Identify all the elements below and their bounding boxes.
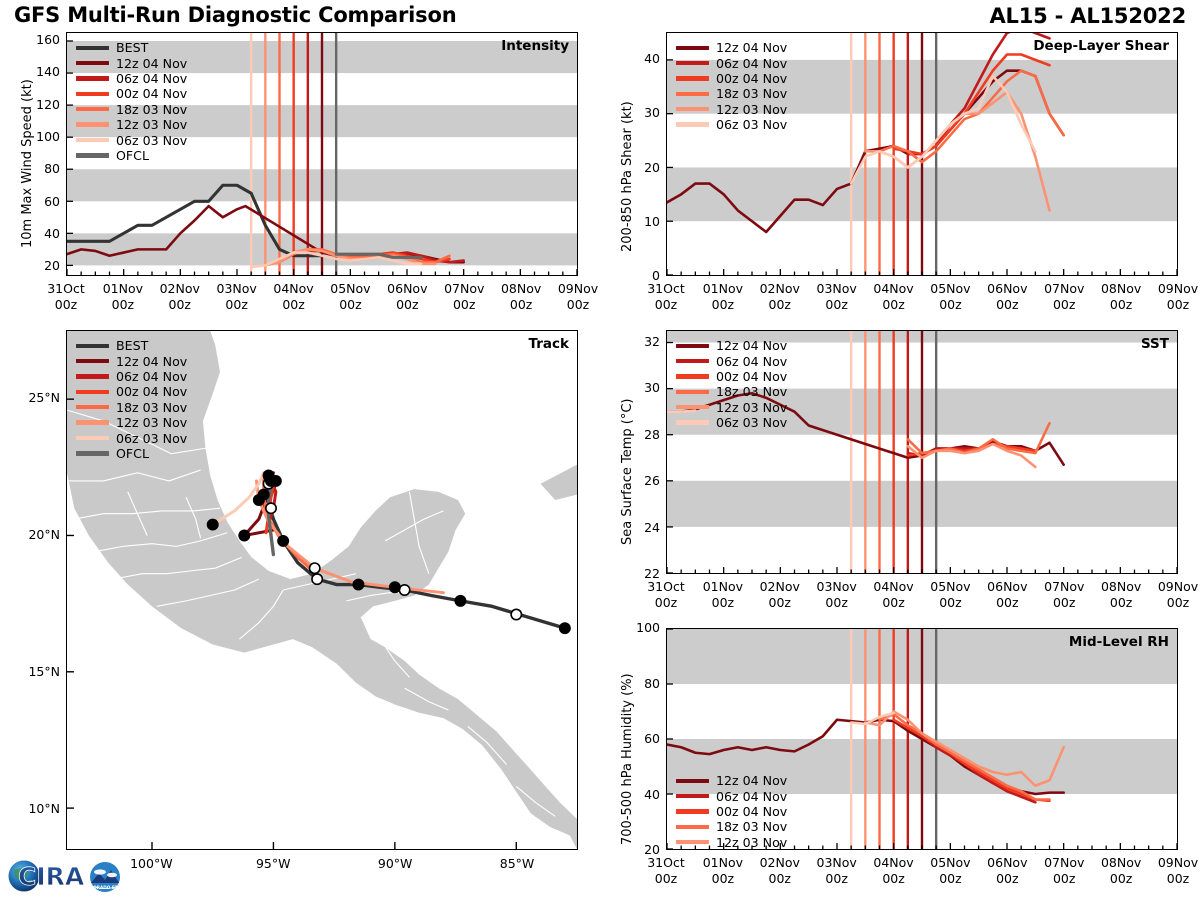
- legend-label: 06z 04 Nov: [116, 369, 187, 384]
- y-tick-label: 20: [620, 160, 660, 175]
- legend-swatch-icon: [76, 107, 109, 111]
- legend-label: 18z 03 Nov: [116, 400, 187, 415]
- legend-swatch-icon: [76, 436, 109, 440]
- y-tick-label: 28: [620, 427, 660, 442]
- legend-sst: 12z 04 Nov06z 04 Nov00z 04 Nov18z 03 Nov…: [676, 338, 787, 430]
- legend-label: 06z 04 Nov: [716, 789, 787, 804]
- lon-tick-label: 95°W: [238, 856, 308, 872]
- legend-label: OFCL: [116, 446, 149, 461]
- legend-item-18z-03-nov: 18z 03 Nov: [676, 819, 787, 834]
- legend-item-06z-03-nov: 06z 03 Nov: [676, 415, 787, 430]
- x-tick-label: 31Oct00z: [36, 281, 96, 313]
- legend-label: 12z 04 Nov: [716, 338, 787, 353]
- x-tick-date: 07Nov: [444, 281, 484, 296]
- x-tick-label: 07Nov00z: [1034, 579, 1094, 611]
- x-tick-label: 05Nov00z: [320, 281, 380, 313]
- page-title-right: AL15 - AL152022: [989, 4, 1186, 28]
- legend-item-06z-03-nov: 06z 03 Nov: [676, 117, 787, 132]
- x-tick-hour: 00z: [225, 297, 247, 312]
- y-tick-label: 20: [20, 258, 60, 273]
- x-tick-date: 09Nov: [1158, 579, 1198, 594]
- x-tick-date: 08Nov: [501, 281, 541, 296]
- legend-swatch-icon: [76, 138, 109, 142]
- x-tick-hour: 00z: [882, 871, 904, 886]
- legend-label: 00z 04 Nov: [716, 369, 787, 384]
- x-tick-hour: 00z: [1110, 297, 1132, 312]
- x-tick-hour: 00z: [1167, 297, 1189, 312]
- lat-tick-label: 25°N: [8, 390, 60, 405]
- legend-swatch-icon: [676, 840, 709, 844]
- x-tick-label: 08Nov00z: [491, 281, 551, 313]
- legend-item-12z-04-nov: 12z 04 Nov: [676, 338, 787, 353]
- x-tick-hour: 00z: [655, 297, 677, 312]
- lon-tick-label: 90°W: [360, 856, 430, 872]
- x-tick-label: 31Oct00z: [636, 281, 696, 313]
- x-tick-hour: 00z: [712, 871, 734, 886]
- x-tick-date: 06Nov: [987, 579, 1027, 594]
- x-tick-date: 03Nov: [217, 281, 257, 296]
- x-tick-hour: 00z: [282, 297, 304, 312]
- y-tick-label: 32: [620, 334, 660, 349]
- x-tick-hour: 00z: [1053, 595, 1075, 610]
- lat-tick-label: 10°N: [8, 801, 60, 816]
- legend-label: OFCL: [116, 148, 149, 163]
- legend-item-00z-04-nov: 00z 04 Nov: [76, 384, 187, 399]
- svg-text:CIRA: CIRA: [18, 862, 85, 891]
- legend-label: 12z 03 Nov: [116, 415, 187, 430]
- legend-item-06z-04-nov: 06z 04 Nov: [76, 369, 187, 384]
- legend-label: 00z 04 Nov: [716, 71, 787, 86]
- y-tick-label: 60: [20, 194, 60, 209]
- legend-swatch-icon: [676, 76, 709, 80]
- legend-swatch-icon: [676, 107, 709, 111]
- x-tick-label: 07Nov00z: [1034, 281, 1094, 313]
- panel-title-rh: Mid-Level RH: [1069, 634, 1169, 650]
- legend-label: 18z 03 Nov: [116, 102, 187, 117]
- y-tick-label: 120: [20, 97, 60, 112]
- y-tick-label: 60: [620, 731, 660, 746]
- legend-item-18z-03-nov: 18z 03 Nov: [76, 400, 187, 415]
- x-tick-hour: 00z: [655, 595, 677, 610]
- y-tick-label: 24: [620, 520, 660, 535]
- x-tick-hour: 00z: [396, 297, 418, 312]
- legend-label: 12z 04 Nov: [716, 40, 787, 55]
- legend-swatch-icon: [676, 405, 709, 409]
- page-title-left: GFS Multi-Run Diagnostic Comparison: [14, 3, 456, 27]
- x-tick-date: 03Nov: [817, 855, 857, 870]
- legend-label: 00z 04 Nov: [116, 384, 187, 399]
- x-tick-label: 02Nov00z: [750, 579, 810, 611]
- lat-tick-label: 20°N: [8, 527, 60, 542]
- legend-item-06z-04-nov: 06z 04 Nov: [676, 55, 787, 70]
- legend-intensity: BEST12z 04 Nov06z 04 Nov00z 04 Nov18z 03…: [76, 40, 187, 163]
- legend-swatch-icon: [676, 420, 709, 424]
- legend-item-00z-04-nov: 00z 04 Nov: [676, 71, 787, 86]
- x-tick-hour: 00z: [712, 595, 734, 610]
- legend-label: 12z 04 Nov: [116, 354, 187, 369]
- legend-swatch-icon: [676, 92, 709, 96]
- x-tick-hour: 00z: [996, 595, 1018, 610]
- x-tick-label: 02Nov00z: [750, 855, 810, 887]
- legend-label: 00z 04 Nov: [716, 804, 787, 819]
- x-tick-date: 08Nov: [1101, 855, 1141, 870]
- legend-label: BEST: [116, 338, 148, 353]
- legend-label: 06z 04 Nov: [716, 354, 787, 369]
- x-tick-hour: 00z: [882, 297, 904, 312]
- x-tick-hour: 00z: [996, 871, 1018, 886]
- x-tick-date: 06Nov: [987, 855, 1027, 870]
- x-tick-label: 06Nov00z: [977, 579, 1037, 611]
- x-tick-date: 05Nov: [930, 579, 970, 594]
- x-tick-label: 04Nov00z: [864, 855, 924, 887]
- x-tick-label: 04Nov00z: [264, 281, 324, 313]
- x-tick-label: 01Nov00z: [93, 281, 153, 313]
- legend-swatch-icon: [76, 153, 109, 157]
- x-tick-label: 09Nov00z: [548, 281, 608, 313]
- legend-item-06z-04-nov: 06z 04 Nov: [76, 71, 187, 86]
- legend-item-06z-03-nov: 06z 03 Nov: [76, 132, 187, 147]
- y-tick-label: 160: [20, 32, 60, 47]
- x-tick-hour: 00z: [55, 297, 77, 312]
- x-tick-hour: 00z: [939, 595, 961, 610]
- legend-rh: 12z 04 Nov06z 04 Nov00z 04 Nov18z 03 Nov…: [676, 773, 787, 850]
- panel-title-track: Track: [529, 336, 569, 352]
- legend-swatch-icon: [676, 344, 709, 348]
- x-tick-label: 06Nov00z: [977, 281, 1037, 313]
- y-tick-label: 30: [620, 105, 660, 120]
- x-tick-label: 31Oct00z: [636, 855, 696, 887]
- x-tick-label: 02Nov00z: [750, 281, 810, 313]
- legend-item-12z-04-nov: 12z 04 Nov: [76, 353, 187, 368]
- x-tick-hour: 00z: [939, 297, 961, 312]
- legend-swatch-icon: [76, 92, 109, 96]
- x-tick-date: 04Nov: [873, 579, 913, 594]
- x-tick-hour: 00z: [939, 871, 961, 886]
- legend-item-18z-03-nov: 18z 03 Nov: [76, 102, 187, 117]
- x-tick-hour: 00z: [1167, 595, 1189, 610]
- x-tick-label: 06Nov00z: [377, 281, 437, 313]
- legend-swatch-icon: [676, 825, 709, 829]
- x-tick-label: 03Nov00z: [807, 855, 867, 887]
- legend-item-18z-03-nov: 18z 03 Nov: [676, 86, 787, 101]
- legend-label: 18z 03 Nov: [716, 819, 787, 834]
- x-tick-date: 06Nov: [987, 281, 1027, 296]
- legend-label: 12z 03 Nov: [716, 102, 787, 117]
- x-tick-hour: 00z: [169, 297, 191, 312]
- x-tick-hour: 00z: [1167, 871, 1189, 886]
- legend-swatch-icon: [76, 122, 109, 126]
- y-tick-label: 80: [20, 161, 60, 176]
- panel-shear: Deep-Layer Shear 12z 04 Nov06z 04 Nov00z…: [666, 32, 1178, 276]
- x-tick-hour: 00z: [825, 595, 847, 610]
- x-tick-label: 08Nov00z: [1091, 855, 1151, 887]
- x-tick-date: 07Nov: [1044, 579, 1084, 594]
- legend-label: 12z 03 Nov: [716, 835, 787, 850]
- x-tick-label: 07Nov00z: [1034, 855, 1094, 887]
- x-tick-date: 08Nov: [1101, 579, 1141, 594]
- x-tick-label: 09Nov00z: [1148, 579, 1200, 611]
- x-tick-date: 02Nov: [160, 281, 200, 296]
- legend-label: 06z 03 Nov: [116, 133, 187, 148]
- legend-swatch-icon: [76, 420, 109, 424]
- y-tick-label: 40: [620, 51, 660, 66]
- legend-item-06z-03-nov: 06z 03 Nov: [76, 430, 187, 445]
- legend-label: 12z 04 Nov: [116, 56, 187, 71]
- x-tick-label: 01Nov00z: [693, 281, 753, 313]
- legend-swatch-icon: [676, 61, 709, 65]
- legend-item-00z-04-nov: 00z 04 Nov: [676, 369, 787, 384]
- legend-label: 18z 03 Nov: [716, 384, 787, 399]
- legend-track: BEST12z 04 Nov06z 04 Nov00z 04 Nov18z 03…: [76, 338, 187, 461]
- x-tick-date: 02Nov: [760, 855, 800, 870]
- x-tick-label: 03Nov00z: [807, 579, 867, 611]
- legend-item-12z-03-nov: 12z 03 Nov: [676, 400, 787, 415]
- legend-label: 06z 04 Nov: [716, 56, 787, 71]
- legend-item-12z-03-nov: 12z 03 Nov: [676, 835, 787, 850]
- x-tick-date: 01Nov: [703, 579, 743, 594]
- legend-item-06z-04-nov: 06z 04 Nov: [676, 788, 787, 803]
- legend-label: BEST: [116, 40, 148, 55]
- legend-item-18z-03-nov: 18z 03 Nov: [676, 384, 787, 399]
- legend-swatch-icon: [76, 46, 109, 50]
- legend-item-12z-04-nov: 12z 04 Nov: [676, 40, 787, 55]
- x-tick-hour: 00z: [882, 595, 904, 610]
- panel-rh: Mid-Level RH 12z 04 Nov06z 04 Nov00z 04 …: [666, 628, 1178, 850]
- svg-text:COLORADO STATE: COLORADO STATE: [84, 885, 126, 890]
- x-tick-label: 03Nov00z: [207, 281, 267, 313]
- legend-label: 06z 03 Nov: [116, 431, 187, 446]
- x-tick-date: 04Nov: [873, 281, 913, 296]
- y-tick-label: 140: [20, 64, 60, 79]
- x-tick-hour: 00z: [510, 297, 532, 312]
- x-tick-hour: 00z: [567, 297, 589, 312]
- y-tick-label: 10: [620, 214, 660, 229]
- legend-swatch-icon: [76, 344, 109, 348]
- x-tick-date: 07Nov: [1044, 855, 1084, 870]
- panel-sst: SST 12z 04 Nov06z 04 Nov00z 04 Nov18z 03…: [666, 330, 1178, 574]
- legend-item-12z-04-nov: 12z 04 Nov: [676, 773, 787, 788]
- x-tick-date: 03Nov: [817, 281, 857, 296]
- rh-ylabel: 700-500 hPa Humidity (%): [620, 673, 635, 845]
- x-tick-date: 01Nov: [103, 281, 143, 296]
- x-tick-label: 05Nov00z: [920, 855, 980, 887]
- legend-swatch-icon: [676, 46, 709, 50]
- x-tick-hour: 00z: [655, 871, 677, 886]
- panel-title-sst: SST: [1141, 336, 1169, 352]
- x-tick-hour: 00z: [769, 595, 791, 610]
- legend-label: 12z 03 Nov: [116, 117, 187, 132]
- x-tick-date: 07Nov: [1044, 281, 1084, 296]
- legend-item-best: BEST: [76, 40, 187, 55]
- legend-swatch-icon: [76, 390, 109, 394]
- panel-intensity: Intensity BEST12z 04 Nov06z 04 Nov00z 04…: [66, 32, 578, 276]
- x-tick-label: 03Nov00z: [807, 281, 867, 313]
- legend-label: 06z 03 Nov: [716, 415, 787, 430]
- x-tick-hour: 00z: [339, 297, 361, 312]
- x-tick-label: 05Nov00z: [920, 579, 980, 611]
- legend-label: 00z 04 Nov: [116, 86, 187, 101]
- x-tick-hour: 00z: [1053, 871, 1075, 886]
- x-tick-date: 04Nov: [873, 855, 913, 870]
- legend-swatch-icon: [76, 405, 109, 409]
- legend-swatch-icon: [676, 779, 709, 783]
- legend-swatch-icon: [676, 374, 709, 378]
- legend-item-12z-03-nov: 12z 03 Nov: [76, 415, 187, 430]
- x-tick-label: 01Nov00z: [693, 855, 753, 887]
- legend-swatch-icon: [76, 359, 109, 363]
- x-tick-date: 05Nov: [930, 855, 970, 870]
- x-tick-hour: 00z: [1110, 871, 1132, 886]
- y-tick-label: 26: [620, 473, 660, 488]
- x-tick-label: 31Oct00z: [636, 579, 696, 611]
- legend-item-00z-04-nov: 00z 04 Nov: [676, 804, 787, 819]
- legend-label: 06z 04 Nov: [116, 71, 187, 86]
- y-tick-label: 100: [620, 620, 660, 635]
- x-tick-label: 04Nov00z: [864, 579, 924, 611]
- legend-item-06z-04-nov: 06z 04 Nov: [676, 353, 787, 368]
- lon-tick-label: 85°W: [482, 856, 552, 872]
- x-tick-date: 03Nov: [817, 579, 857, 594]
- x-tick-date: 08Nov: [1101, 281, 1141, 296]
- legend-swatch-icon: [676, 809, 709, 813]
- legend-item-12z-03-nov: 12z 03 Nov: [76, 117, 187, 132]
- x-tick-label: 09Nov00z: [1148, 855, 1200, 887]
- x-tick-label: 04Nov00z: [864, 281, 924, 313]
- x-tick-hour: 00z: [769, 297, 791, 312]
- legend-swatch-icon: [676, 794, 709, 798]
- panel-track: Track BEST12z 04 Nov06z 04 Nov00z 04 Nov…: [66, 330, 578, 850]
- x-tick-date: 02Nov: [760, 579, 800, 594]
- panel-title-shear: Deep-Layer Shear: [1033, 38, 1169, 54]
- x-tick-hour: 00z: [825, 297, 847, 312]
- x-tick-date: 31Oct: [647, 281, 685, 296]
- x-tick-hour: 00z: [1053, 297, 1075, 312]
- x-tick-hour: 00z: [453, 297, 475, 312]
- x-tick-date: 02Nov: [760, 281, 800, 296]
- x-tick-date: 01Nov: [703, 855, 743, 870]
- x-tick-label: 01Nov00z: [693, 579, 753, 611]
- legend-swatch-icon: [676, 359, 709, 363]
- legend-item-00z-04-nov: 00z 04 Nov: [76, 86, 187, 101]
- y-tick-label: 30: [620, 380, 660, 395]
- x-tick-date: 06Nov: [387, 281, 427, 296]
- shear-ylabel: 200-850 hPa Shear (kt): [620, 101, 635, 252]
- x-tick-hour: 00z: [825, 871, 847, 886]
- x-tick-label: 08Nov00z: [1091, 281, 1151, 313]
- x-tick-label: 02Nov00z: [150, 281, 210, 313]
- legend-swatch-icon: [76, 76, 109, 80]
- cira-logo: CIRA COLORADO STATE: [5, 856, 127, 896]
- legend-label: 12z 03 Nov: [716, 400, 787, 415]
- legend-item-ofcl: OFCL: [76, 148, 187, 163]
- x-tick-date: 05Nov: [330, 281, 370, 296]
- y-tick-label: 40: [620, 787, 660, 802]
- legend-shear: 12z 04 Nov06z 04 Nov00z 04 Nov18z 03 Nov…: [676, 40, 787, 132]
- legend-swatch-icon: [76, 374, 109, 378]
- legend-swatch-icon: [76, 451, 109, 455]
- y-tick-label: 80: [620, 676, 660, 691]
- x-tick-date: 31Oct: [647, 579, 685, 594]
- x-tick-hour: 00z: [769, 871, 791, 886]
- x-tick-date: 09Nov: [558, 281, 598, 296]
- panel-title-intensity: Intensity: [501, 38, 569, 54]
- x-tick-hour: 00z: [712, 297, 734, 312]
- y-tick-label: 100: [20, 129, 60, 144]
- legend-swatch-icon: [676, 390, 709, 394]
- legend-item-12z-04-nov: 12z 04 Nov: [76, 55, 187, 70]
- legend-item-best: BEST: [76, 338, 187, 353]
- x-tick-date: 09Nov: [1158, 855, 1198, 870]
- x-tick-date: 31Oct: [47, 281, 85, 296]
- legend-label: 12z 04 Nov: [716, 773, 787, 788]
- x-tick-date: 05Nov: [930, 281, 970, 296]
- x-tick-date: 09Nov: [1158, 281, 1198, 296]
- x-tick-hour: 00z: [996, 297, 1018, 312]
- lat-tick-label: 15°N: [8, 664, 60, 679]
- x-tick-label: 05Nov00z: [920, 281, 980, 313]
- legend-swatch-icon: [676, 122, 709, 126]
- legend-item-12z-03-nov: 12z 03 Nov: [676, 102, 787, 117]
- x-tick-label: 09Nov00z: [1148, 281, 1200, 313]
- legend-swatch-icon: [76, 61, 109, 65]
- legend-label: 06z 03 Nov: [716, 117, 787, 132]
- legend-item-ofcl: OFCL: [76, 446, 187, 461]
- x-tick-label: 07Nov00z: [434, 281, 494, 313]
- x-tick-hour: 00z: [1110, 595, 1132, 610]
- y-tick-label: 40: [20, 226, 60, 241]
- x-tick-date: 04Nov: [273, 281, 313, 296]
- x-tick-date: 31Oct: [647, 855, 685, 870]
- x-tick-date: 01Nov: [703, 281, 743, 296]
- x-tick-label: 08Nov00z: [1091, 579, 1151, 611]
- x-tick-hour: 00z: [112, 297, 134, 312]
- x-tick-label: 06Nov00z: [977, 855, 1037, 887]
- legend-label: 18z 03 Nov: [716, 86, 787, 101]
